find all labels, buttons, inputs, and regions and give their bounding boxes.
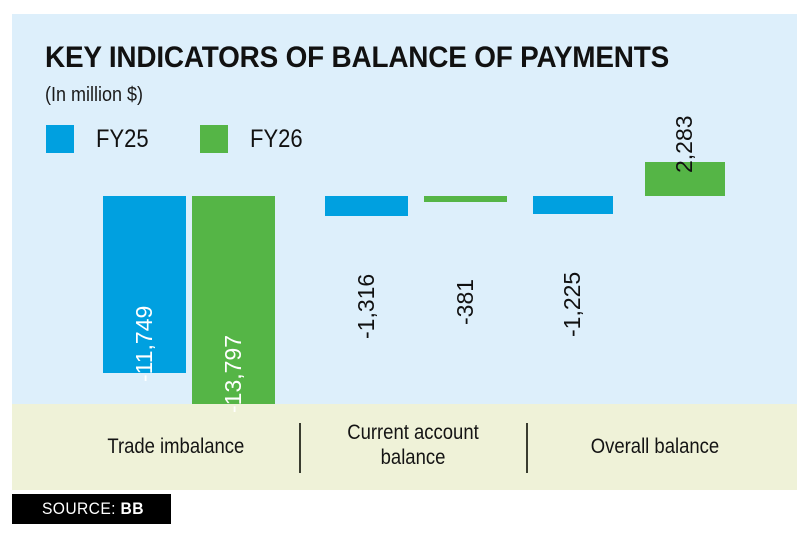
source-prefix: SOURCE:	[42, 499, 116, 518]
source-name: BB	[121, 499, 144, 518]
category-divider-2	[526, 423, 528, 473]
plot-area: -11,749 -13,797 -1,316 -381 -1,225 2,283	[12, 14, 797, 404]
value-label-trade-imbalance-fy25: -11,749	[133, 306, 156, 382]
value-label-current-account-balance-fy25: -1,316	[355, 274, 378, 339]
category-label-current-account-balance: Current account balance	[308, 420, 518, 470]
source-banner: SOURCE: BB	[12, 494, 171, 524]
category-label-overall-balance-text: Overall balance	[591, 434, 719, 459]
category-label-trade-imbalance: Trade imbalance	[62, 434, 290, 459]
value-label-current-account-balance-fy26: -381	[454, 279, 477, 325]
category-label-overall-balance: Overall balance	[540, 434, 770, 459]
bar-current-account-balance-fy25[interactable]	[325, 196, 408, 216]
bar-current-account-balance-fy26[interactable]	[424, 196, 507, 202]
category-label-trade-imbalance-text: Trade imbalance	[108, 434, 245, 459]
value-label-overall-balance-fy25: -1,225	[561, 272, 584, 337]
bar-overall-balance-fy25[interactable]	[533, 196, 613, 214]
category-label-current-account-balance-text: Current account balance	[321, 420, 506, 470]
source-text: SOURCE: BB	[42, 499, 144, 519]
infographic-root: KEY INDICATORS OF BALANCE OF PAYMENTS (I…	[0, 0, 810, 536]
category-divider-1	[299, 423, 301, 473]
value-label-overall-balance-fy26: 2,283	[673, 115, 696, 173]
value-label-trade-imbalance-fy26: -13,797	[222, 335, 245, 413]
